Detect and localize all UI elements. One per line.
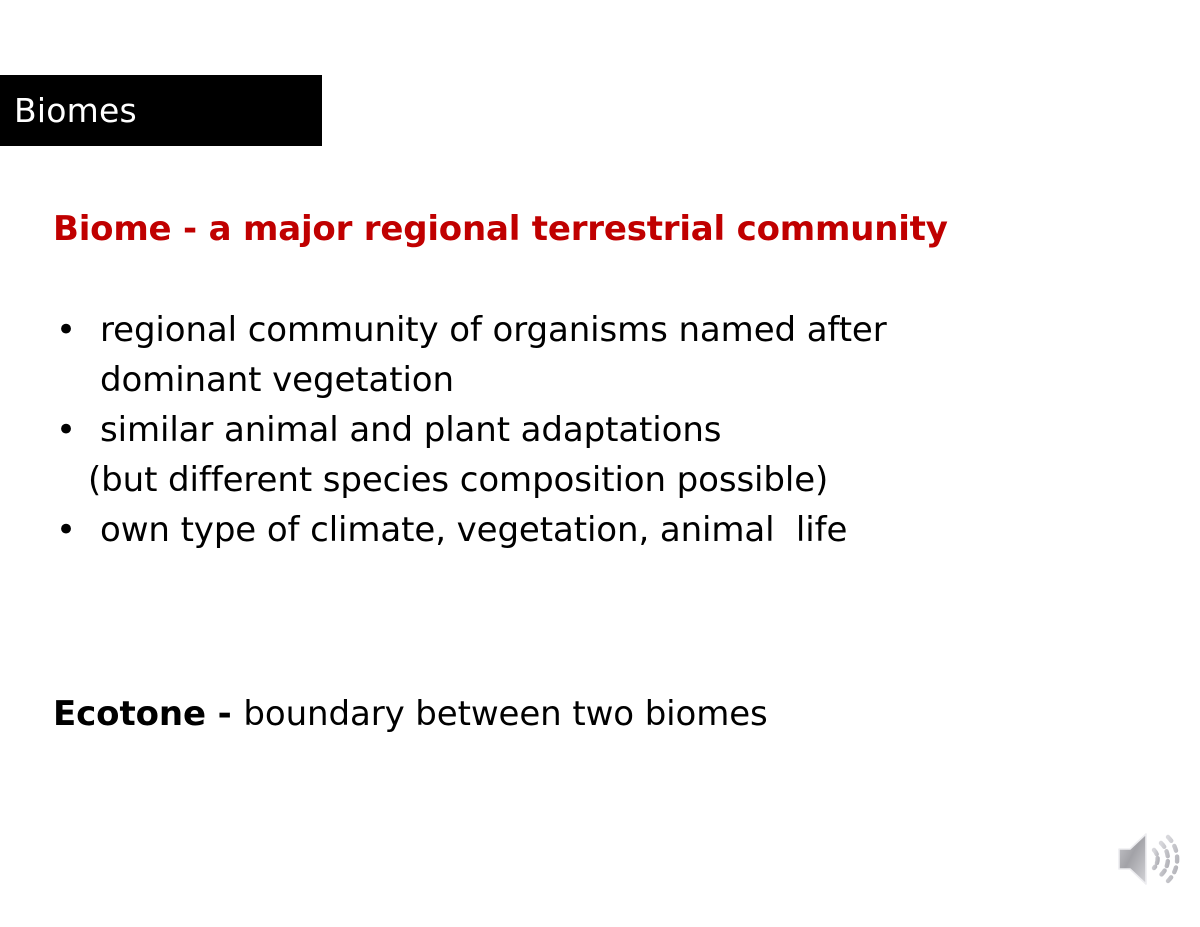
list-item-continuation: (but different species composition possi… [0, 455, 1100, 505]
bullet-point-icon: • [56, 505, 100, 555]
slide-body: Biome - a major regional terrestrial com… [0, 0, 1200, 927]
list-item: •similar animal and plant adaptations [0, 405, 1100, 455]
list-item-continuation: dominant vegetation [0, 355, 1100, 405]
list-item-text: similar animal and plant adaptations [100, 410, 721, 450]
list-item-text: own type of climate, vegetation, animal … [100, 510, 847, 550]
bullet-point-icon: • [56, 405, 100, 455]
ecotone-description: boundary between two biomes [243, 694, 767, 734]
list-item: •own type of climate, vegetation, animal… [0, 505, 1100, 555]
biome-characteristics-list: •regional community of organisms named a… [0, 305, 1100, 555]
bullet-point-icon: • [56, 305, 100, 355]
biome-definition-heading: Biome - a major regional terrestrial com… [53, 209, 948, 249]
ecotone-definition: Ecotone - boundary between two biomes [53, 694, 768, 734]
slide-canvas: Biomes Biome - a major regional terrestr… [0, 0, 1200, 927]
speaker-audio-icon[interactable] [1113, 828, 1185, 890]
ecotone-term: Ecotone - [53, 694, 243, 734]
list-item-text: regional community of organisms named af… [100, 310, 887, 350]
list-item: •regional community of organisms named a… [0, 305, 1100, 355]
